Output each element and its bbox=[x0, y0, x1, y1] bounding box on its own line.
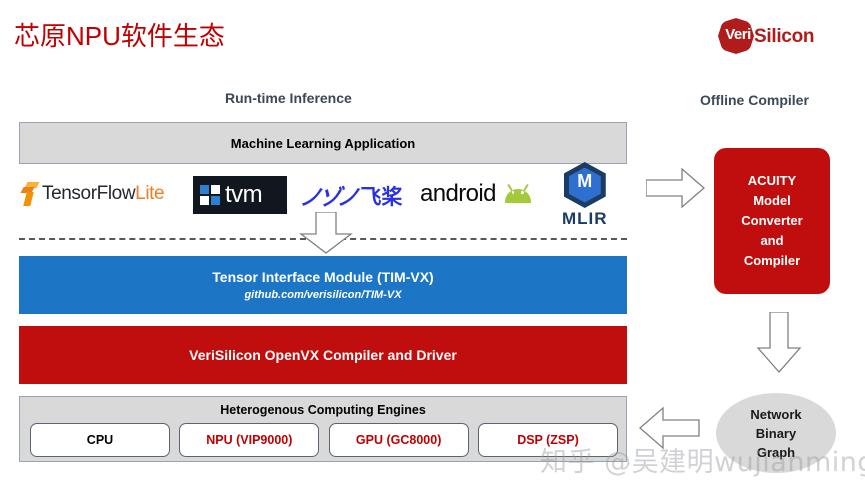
arrow-down-to-tim-vx-icon bbox=[298, 212, 354, 254]
nbg-line-3: Graph bbox=[757, 443, 795, 462]
machine-learning-application-box: Machine Learning Application bbox=[19, 122, 627, 164]
engine-chip-cpu-label: CPU bbox=[87, 433, 113, 447]
slide-canvas: 芯原NPU软件生态 Veri Silicon Run-time Inferenc… bbox=[0, 0, 865, 492]
engine-chip-npu-label: NPU (VIP9000) bbox=[206, 433, 292, 447]
engine-chip-cpu[interactable]: CPU bbox=[30, 423, 170, 457]
tvm-icon bbox=[200, 185, 221, 206]
acuity-line-4: and bbox=[760, 231, 783, 251]
android-robot-icon bbox=[503, 185, 533, 203]
paddlepaddle-logo: ノゾノ 飞桨 bbox=[300, 180, 402, 212]
mlir-hexagon-icon: M bbox=[564, 162, 606, 208]
tim-vx-url: github.com/verisilicon/TIM-VX bbox=[244, 287, 401, 303]
tim-vx-title: Tensor Interface Module (TIM-VX) bbox=[212, 268, 433, 287]
mlir-logo: M MLIR bbox=[562, 162, 608, 229]
network-binary-graph-ellipse: Network Binary Graph bbox=[716, 393, 836, 473]
android-label: android bbox=[420, 180, 496, 208]
tensorflow-lite-label-primary: TensorFlow bbox=[42, 183, 135, 204]
tim-vx-box: Tensor Interface Module (TIM-VX) github.… bbox=[19, 256, 627, 314]
tensorflow-lite-logo: TensorFlowLite bbox=[18, 182, 164, 206]
engine-chip-npu[interactable]: NPU (VIP9000) bbox=[179, 423, 319, 457]
arrow-left-from-network-binary-graph-icon bbox=[638, 406, 700, 450]
paddlepaddle-label: 飞桨 bbox=[360, 181, 402, 211]
engines-title: Heterogenous Computing Engines bbox=[220, 403, 426, 417]
arrow-down-to-network-binary-graph-icon bbox=[756, 312, 802, 374]
verisilicon-wordmark: Silicon bbox=[754, 26, 814, 48]
openvx-label: VeriSilicon OpenVX Compiler and Driver bbox=[189, 347, 457, 363]
engine-chip-dsp-label: DSP (ZSP) bbox=[517, 433, 579, 447]
verisilicon-mark-label: Veri bbox=[721, 26, 755, 43]
heterogenous-computing-engines-box: Heterogenous Computing Engines CPU NPU (… bbox=[19, 396, 627, 462]
engine-chip-gpu[interactable]: GPU (GC8000) bbox=[329, 423, 469, 457]
openvx-compiler-driver-box: VeriSilicon OpenVX Compiler and Driver bbox=[19, 326, 627, 384]
tensorflow-lite-label-secondary: Lite bbox=[135, 183, 164, 204]
engines-chip-row: CPU NPU (VIP9000) GPU (GC8000) DSP (ZSP) bbox=[20, 423, 628, 457]
android-logo: android bbox=[420, 180, 533, 208]
tvm-logo: tvm bbox=[193, 176, 287, 214]
nbg-line-2: Binary bbox=[756, 424, 796, 443]
tensorflow-icon bbox=[18, 182, 38, 206]
paddlepaddle-icon: ノゾノ bbox=[298, 180, 358, 212]
acuity-line-1: ACUITY bbox=[748, 171, 796, 191]
verisilicon-logo: Veri Silicon bbox=[718, 16, 850, 58]
runtime-inference-heading: Run-time Inference bbox=[225, 90, 352, 106]
engine-chip-gpu-label: GPU (GC8000) bbox=[356, 433, 441, 447]
offline-compiler-heading: Offline Compiler bbox=[700, 92, 809, 108]
arrow-right-to-acuity-icon bbox=[646, 168, 706, 208]
acuity-line-5: Compiler bbox=[744, 251, 800, 271]
acuity-line-3: Converter bbox=[741, 211, 802, 231]
machine-learning-application-label: Machine Learning Application bbox=[231, 136, 415, 151]
acuity-model-converter-box: ACUITY Model Converter and Compiler bbox=[714, 148, 830, 294]
page-title: 芯原NPU软件生态 bbox=[14, 16, 225, 53]
acuity-line-2: Model bbox=[753, 191, 791, 211]
engine-chip-dsp[interactable]: DSP (ZSP) bbox=[478, 423, 618, 457]
mlir-label: MLIR bbox=[562, 209, 608, 229]
nbg-line-1: Network bbox=[750, 405, 801, 424]
tvm-label: tvm bbox=[225, 183, 262, 207]
